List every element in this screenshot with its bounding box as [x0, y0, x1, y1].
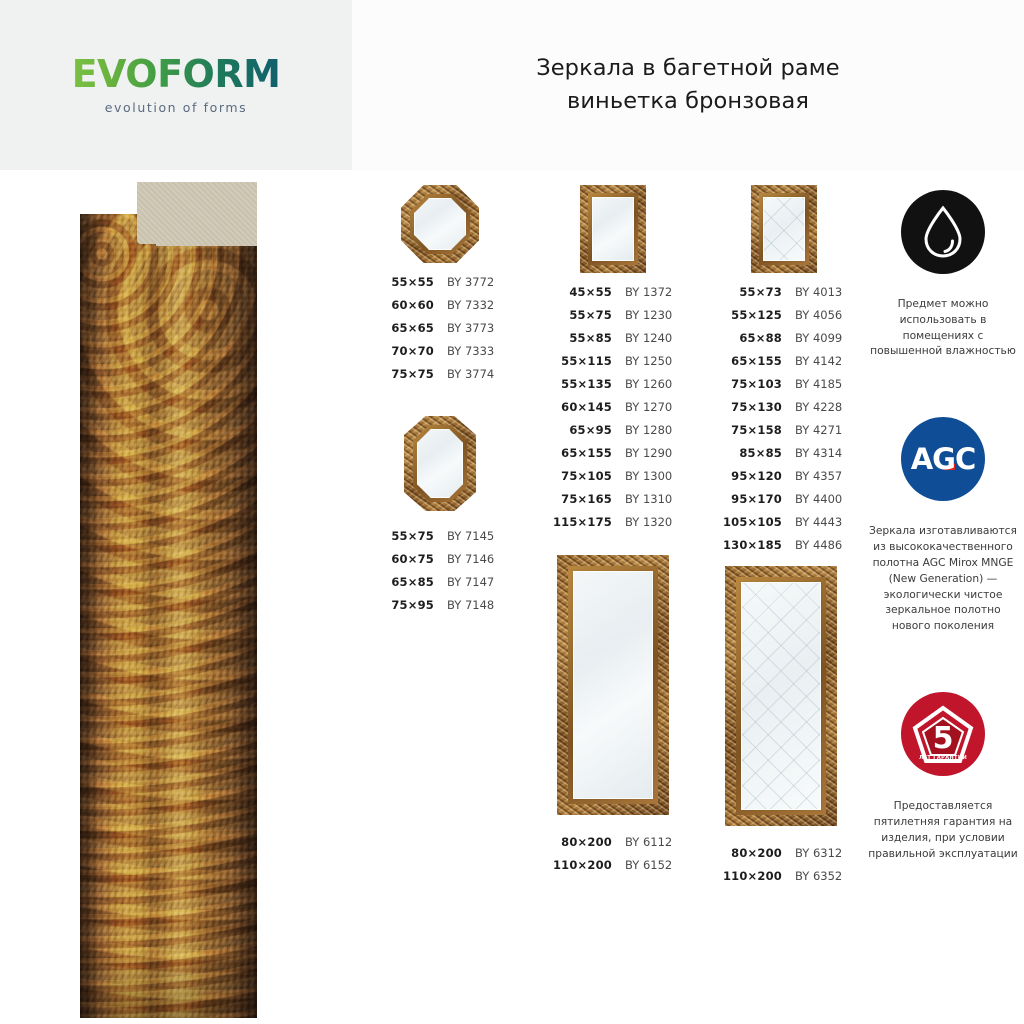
mirror-thumbnail-octagon-wrap	[370, 185, 510, 263]
size-dimension: 80×200	[710, 846, 782, 860]
size-article-code: BY 4013	[795, 285, 842, 299]
size-list-octagon: 55×55 BY 3772 60×60 BY 7332 65×65 BY 377…	[370, 275, 510, 381]
size-dimension: 75×130	[710, 400, 782, 414]
size-dimension: 55×125	[710, 308, 782, 322]
size-row[interactable]: 65×65 BY 3773	[370, 321, 510, 335]
size-article-code: BY 7333	[447, 344, 494, 358]
size-article-code: BY 6112	[625, 835, 672, 849]
size-dimension: 65×88	[710, 331, 782, 345]
size-row[interactable]: 75×103 BY 4185	[710, 377, 858, 391]
size-row[interactable]: 55×73 BY 4013	[710, 285, 858, 299]
feature-text: Предмет можно использовать в помещениях …	[868, 296, 1018, 359]
size-row[interactable]: 75×95 BY 7148	[370, 598, 510, 612]
feature-icon-wrap: 5 ЛЕТ ГАРАНТИИ	[868, 692, 1018, 776]
size-article-code: BY 7146	[447, 552, 494, 566]
size-row[interactable]: 110×200 BY 6352	[710, 869, 858, 883]
size-list-rectangle-facet: 55×73 BY 4013 55×125 BY 4056 65×88 BY 40…	[710, 285, 858, 552]
size-row[interactable]: 75×75 BY 3774	[370, 367, 510, 381]
agc-label: AGC	[911, 442, 976, 476]
size-row[interactable]: 80×200 BY 6112	[540, 835, 685, 849]
size-article-code: BY 3773	[447, 321, 494, 335]
size-article-code: BY 7147	[447, 575, 494, 589]
size-dimension: 55×115	[540, 354, 612, 368]
page-title-line-1: Зеркала в багетной раме	[536, 52, 840, 85]
size-dimension: 60×75	[370, 552, 434, 566]
size-article-code: BY 4271	[795, 423, 842, 437]
size-row[interactable]: 115×175 BY 1320	[540, 515, 685, 529]
size-dimension: 55×85	[540, 331, 612, 345]
size-dimension: 60×145	[540, 400, 612, 414]
size-row[interactable]: 75×105 BY 1300	[540, 469, 685, 483]
size-dimension: 55×75	[370, 529, 434, 543]
size-dimension: 55×135	[540, 377, 612, 391]
size-article-code: BY 4486	[795, 538, 842, 552]
size-article-code: BY 1260	[625, 377, 672, 391]
warranty-number: 5	[933, 721, 954, 756]
size-article-code: BY 4443	[795, 515, 842, 529]
mirror-glass-faceted	[763, 197, 805, 261]
size-list-rectangle-tall-facet: 80×200 BY 6312 110×200 BY 6352	[710, 846, 858, 883]
frame-shading-overlay	[80, 214, 257, 1018]
size-article-code: BY 4400	[795, 492, 842, 506]
size-dimension: 110×200	[710, 869, 782, 883]
size-article-code: BY 1310	[625, 492, 672, 506]
warranty-sublabel: ЛЕТ ГАРАНТИИ	[919, 755, 967, 761]
size-dimension: 95×170	[710, 492, 782, 506]
size-row[interactable]: 55×75 BY 1230	[540, 308, 685, 322]
brand-logo: EVOFORM	[72, 55, 281, 93]
mirror-thumbnail-rectangle[interactable]	[580, 185, 646, 273]
frame-profile-sample	[80, 182, 257, 1018]
size-dimension: 110×200	[540, 858, 612, 872]
mirror-thumbnail-rectangle-facet[interactable]	[751, 185, 817, 273]
size-dimension: 130×185	[710, 538, 782, 552]
size-row[interactable]: 110×200 BY 6152	[540, 858, 685, 872]
size-dimension: 65×65	[370, 321, 434, 335]
water-drop-glyph	[921, 205, 965, 259]
size-row[interactable]: 85×85 BY 4314	[710, 446, 858, 460]
page-title-line-2: виньетка бронзовая	[567, 85, 809, 118]
five-year-warranty-icon: 5 ЛЕТ ГАРАНТИИ	[901, 692, 985, 776]
product-column-2: 45×55 BY 1372 55×75 BY 1230 55×85 BY 124…	[540, 185, 685, 881]
size-article-code: BY 1250	[625, 354, 672, 368]
size-dimension: 95×120	[710, 469, 782, 483]
size-article-code: BY 3772	[447, 275, 494, 289]
size-row[interactable]: 55×115 BY 1250	[540, 354, 685, 368]
size-article-code: BY 1372	[625, 285, 672, 299]
catalog-page: EVOFORM evolution of forms Зеркала в баг…	[0, 0, 1024, 1024]
mirror-thumbnail-rect-tall-facet-wrap	[704, 566, 858, 826]
size-article-code: BY 1280	[625, 423, 672, 437]
size-dimension: 45×55	[540, 285, 612, 299]
size-list-rectangle-tall: 80×200 BY 6112 110×200 BY 6152	[540, 835, 685, 872]
size-dimension: 75×105	[540, 469, 612, 483]
size-article-code: BY 4056	[795, 308, 842, 322]
size-dimension: 65×155	[540, 446, 612, 460]
product-column-1: 55×55 BY 3772 60×60 BY 7332 65×65 BY 377…	[370, 185, 510, 621]
size-article-code: BY 4357	[795, 469, 842, 483]
size-article-code: BY 1270	[625, 400, 672, 414]
page-header: EVOFORM evolution of forms Зеркала в баг…	[0, 0, 1024, 170]
feature-agc-glass: AGC Зеркала изготавливаются из высококач…	[868, 417, 1018, 634]
size-dimension: 65×85	[370, 575, 434, 589]
size-row[interactable]: 95×120 BY 4357	[710, 469, 858, 483]
size-article-code: BY 7148	[447, 598, 494, 612]
size-article-code: BY 4228	[795, 400, 842, 414]
feature-column: Предмет можно использовать в помещениях …	[868, 190, 1018, 919]
feature-icon-wrap: AGC	[868, 417, 1018, 501]
size-dimension: 65×95	[540, 423, 612, 437]
size-row[interactable]: 75×158 BY 4271	[710, 423, 858, 437]
size-article-code: BY 4314	[795, 446, 842, 460]
size-row[interactable]: 60×75 BY 7146	[370, 552, 510, 566]
size-row[interactable]: 45×55 BY 1372	[540, 285, 685, 299]
size-dimension: 55×75	[540, 308, 612, 322]
water-drop-icon	[901, 190, 985, 274]
size-article-code: BY 4099	[795, 331, 842, 345]
mirror-thumbnail-octagon-tall-wrap	[370, 416, 510, 511]
size-row[interactable]: 65×85 BY 7147	[370, 575, 510, 589]
brand-panel: EVOFORM evolution of forms	[0, 0, 352, 170]
size-article-code: BY 3774	[447, 367, 494, 381]
warranty-pentagon-glyph: 5 ЛЕТ ГАРАНТИИ	[907, 698, 979, 770]
frame-mat-step	[156, 226, 257, 246]
size-dimension: 55×55	[370, 275, 434, 289]
agc-logo-icon: AGC	[901, 417, 985, 501]
size-row[interactable]: 60×60 BY 7332	[370, 298, 510, 312]
mirror-thumbnail-rect-tall-wrap	[540, 555, 685, 815]
size-row[interactable]: 65×95 BY 1280	[540, 423, 685, 437]
page-title-panel: Зеркала в багетной раме виньетка бронзов…	[352, 0, 1024, 170]
size-article-code: BY 1320	[625, 515, 672, 529]
size-row[interactable]: 95×170 BY 4400	[710, 492, 858, 506]
size-row[interactable]: 65×155 BY 4142	[710, 354, 858, 368]
size-dimension: 115×175	[540, 515, 612, 529]
size-article-code: BY 1300	[625, 469, 672, 483]
size-dimension: 75×95	[370, 598, 434, 612]
size-dimension: 75×158	[710, 423, 782, 437]
size-row[interactable]: 55×75 BY 7145	[370, 529, 510, 543]
brand-tagline: evolution of forms	[105, 100, 248, 115]
size-row[interactable]: 75×130 BY 4228	[710, 400, 858, 414]
mirror-thumbnail-rectangle-tall[interactable]	[557, 555, 669, 815]
mirror-glass	[414, 198, 466, 250]
size-dimension: 55×73	[710, 285, 782, 299]
size-article-code: BY 6352	[795, 869, 842, 883]
product-column-3: 55×73 BY 4013 55×125 BY 4056 65×88 BY 40…	[710, 185, 858, 892]
size-dimension: 60×60	[370, 298, 434, 312]
size-row[interactable]: 55×135 BY 1260	[540, 377, 685, 391]
size-article-code: BY 4185	[795, 377, 842, 391]
size-row[interactable]: 75×165 BY 1310	[540, 492, 685, 506]
size-list-rectangle: 45×55 BY 1372 55×75 BY 1230 55×85 BY 124…	[540, 285, 685, 529]
size-row[interactable]: 70×70 BY 7333	[370, 344, 510, 358]
mirror-glass	[592, 197, 634, 261]
size-dimension: 75×165	[540, 492, 612, 506]
size-dimension: 105×105	[710, 515, 782, 529]
size-article-code: BY 4142	[795, 354, 842, 368]
size-article-code: BY 1240	[625, 331, 672, 345]
size-article-code: BY 6152	[625, 858, 672, 872]
mirror-glass	[573, 571, 653, 799]
size-row[interactable]: 55×85 BY 1240	[540, 331, 685, 345]
mirror-thumbnail-octagon[interactable]	[401, 185, 479, 263]
size-article-code: BY 7145	[447, 529, 494, 543]
size-row[interactable]: 80×200 BY 6312	[710, 846, 858, 860]
size-dimension: 85×85	[710, 446, 782, 460]
size-row[interactable]: 55×125 BY 4056	[710, 308, 858, 322]
size-dimension: 75×103	[710, 377, 782, 391]
size-row[interactable]: 55×55 BY 3772	[370, 275, 510, 289]
feature-humidity: Предмет можно использовать в помещениях …	[868, 190, 1018, 359]
size-list-octagon-tall: 55×75 BY 7145 60×75 BY 7146 65×85 BY 714…	[370, 529, 510, 612]
size-row[interactable]: 60×145 BY 1270	[540, 400, 685, 414]
size-article-code: BY 6312	[795, 846, 842, 860]
feature-text: Предоставляется пятилетняя гарантия на и…	[868, 798, 1018, 861]
size-article-code: BY 1230	[625, 308, 672, 322]
size-dimension: 80×200	[540, 835, 612, 849]
size-row[interactable]: 65×88 BY 4099	[710, 331, 858, 345]
mirror-thumbnail-rect-facet-wrap	[710, 185, 858, 273]
feature-text: Зеркала изготавливаются из высококачеств…	[868, 523, 1018, 634]
mirror-thumbnail-rect-wrap	[540, 185, 685, 273]
size-article-code: BY 1290	[625, 446, 672, 460]
size-article-code: BY 7332	[447, 298, 494, 312]
mirror-thumbnail-rectangle-tall-facet[interactable]	[725, 566, 837, 826]
mirror-glass	[417, 429, 463, 498]
feature-icon-wrap	[868, 190, 1018, 274]
mirror-thumbnail-octagon-tall[interactable]	[404, 416, 476, 511]
frame-corner-notch	[80, 182, 137, 208]
size-dimension: 75×75	[370, 367, 434, 381]
size-dimension: 65×155	[710, 354, 782, 368]
size-row[interactable]: 105×105 BY 4443	[710, 515, 858, 529]
size-dimension: 70×70	[370, 344, 434, 358]
size-row[interactable]: 65×155 BY 1290	[540, 446, 685, 460]
mirror-glass-faceted	[741, 582, 821, 810]
size-row[interactable]: 130×185 BY 4486	[710, 538, 858, 552]
feature-warranty: 5 ЛЕТ ГАРАНТИИ Предоставляется пятилетня…	[868, 692, 1018, 861]
